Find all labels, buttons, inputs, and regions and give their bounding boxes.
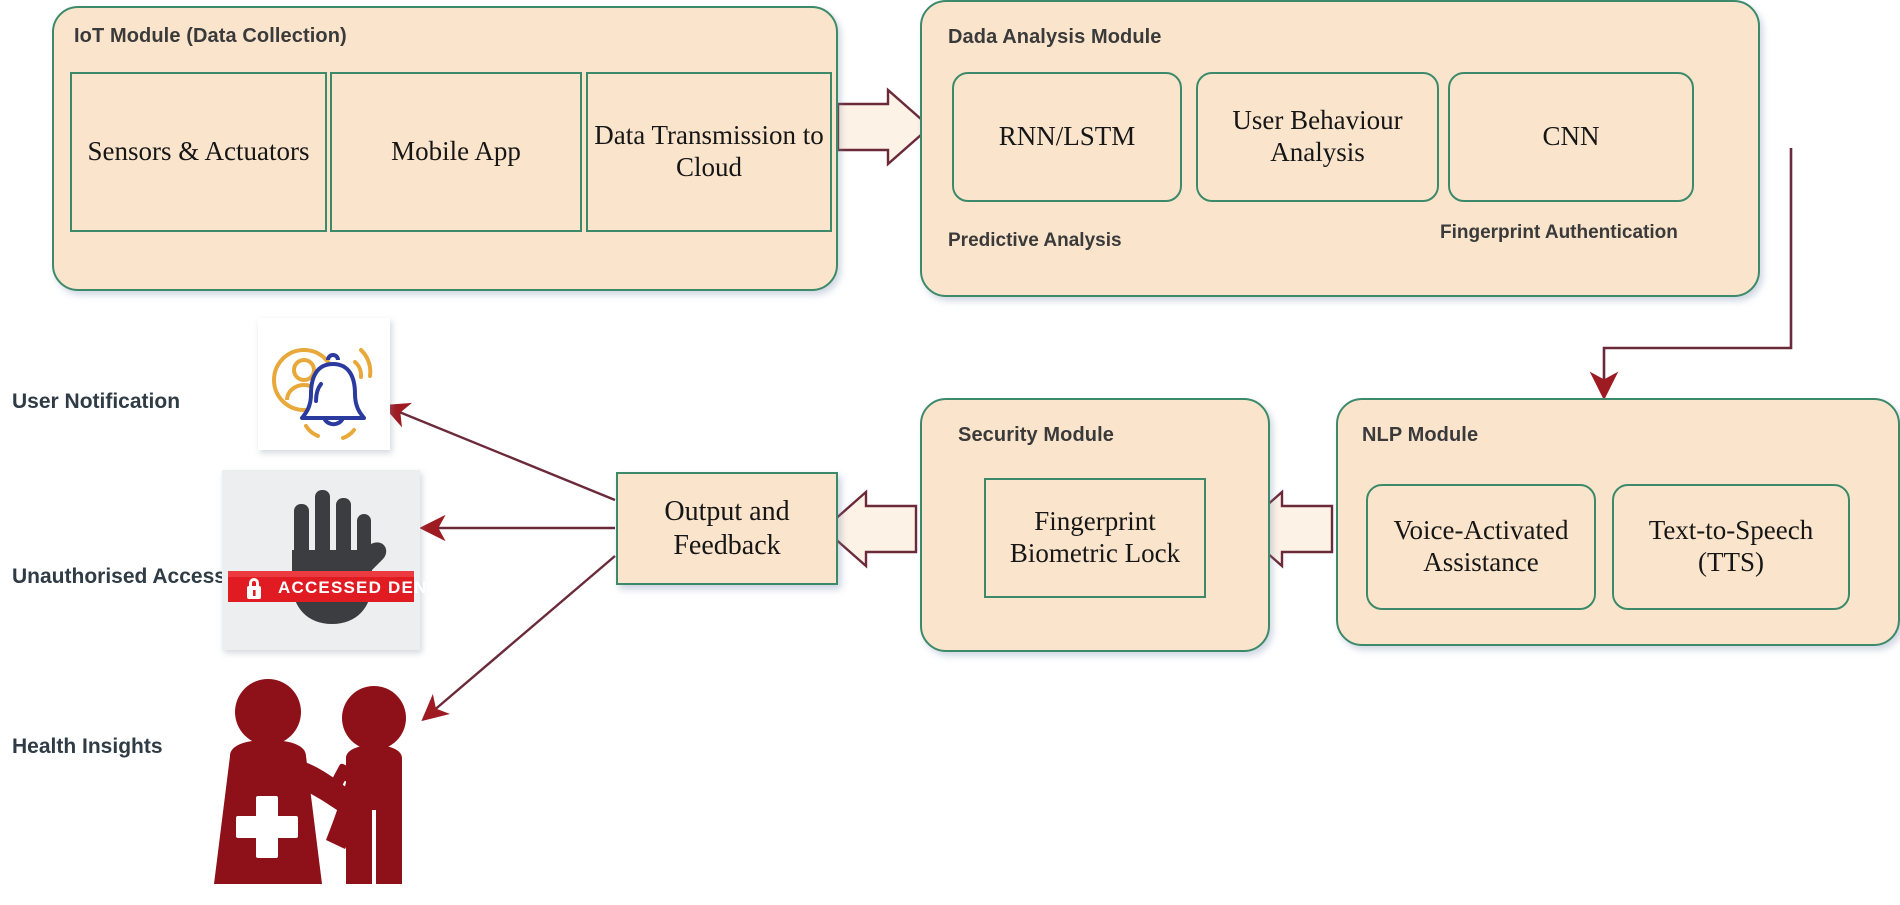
outcome-label-health-insights: Health Insights (12, 735, 163, 759)
analysis-box-rnn-lstm-label: RNN/LSTM (999, 121, 1136, 153)
access-denied-hand-icon: ACCESSED DENIED (222, 470, 420, 650)
iot-box-data-transmission[interactable]: Data Transmission to Cloud (586, 72, 832, 232)
nlp-module-title: NLP Module (1362, 424, 1478, 447)
notification-bell-icon (258, 318, 390, 450)
nlp-box-text-to-speech-label: Text-to-Speech (TTS) (1620, 515, 1842, 579)
security-box-fingerprint-biometric-lock[interactable]: Fingerprint Biometric Lock (984, 478, 1206, 598)
analysis-box-user-behaviour-label: User Behaviour Analysis (1204, 105, 1431, 169)
output-and-feedback-label: Output and Feedback (618, 495, 836, 562)
architecture-diagram: IoT Module (Data Collection) Sensors & A… (0, 0, 1900, 905)
analysis-caption-predictive-analysis: Predictive Analysis (948, 230, 1122, 252)
iot-box-sensors-actuators-label: Sensors & Actuators (88, 136, 310, 168)
iot-box-mobile-app-label: Mobile App (391, 136, 521, 168)
outcome-label-unauthorised-access: Unauthorised Access (12, 565, 226, 589)
nlp-box-voice-activated-assistance[interactable]: Voice-Activated Assistance (1366, 484, 1596, 610)
output-and-feedback-box[interactable]: Output and Feedback (616, 472, 838, 585)
analysis-caption-fingerprint-authentication: Fingerprint Authentication (1440, 222, 1678, 244)
connector-iot-to-analysis (838, 90, 930, 164)
nlp-box-voice-activated-assistance-label: Voice-Activated Assistance (1374, 515, 1588, 579)
nlp-box-text-to-speech[interactable]: Text-to-Speech (TTS) (1612, 484, 1850, 610)
iot-box-sensors-actuators[interactable]: Sensors & Actuators (70, 72, 327, 232)
outcome-label-user-notification: User Notification (12, 390, 180, 414)
data-analysis-module-title: Dada Analysis Module (948, 26, 1162, 49)
connector-output-to-user-notification (387, 407, 615, 500)
health-injection-icon (206, 660, 421, 900)
iot-box-data-transmission-label: Data Transmission to Cloud (594, 120, 824, 184)
iot-module-title: IoT Module (Data Collection) (74, 25, 347, 48)
analysis-box-cnn-label: CNN (1542, 121, 1599, 153)
iot-box-mobile-app[interactable]: Mobile App (330, 72, 582, 232)
access-denied-banner-text: ACCESSED DENIED (278, 578, 459, 597)
analysis-box-user-behaviour[interactable]: User Behaviour Analysis (1196, 72, 1439, 202)
security-box-fingerprint-biometric-lock-label: Fingerprint Biometric Lock (992, 506, 1198, 570)
analysis-box-rnn-lstm[interactable]: RNN/LSTM (952, 72, 1182, 202)
security-module-title: Security Module (958, 424, 1114, 447)
analysis-box-cnn[interactable]: CNN (1448, 72, 1694, 202)
